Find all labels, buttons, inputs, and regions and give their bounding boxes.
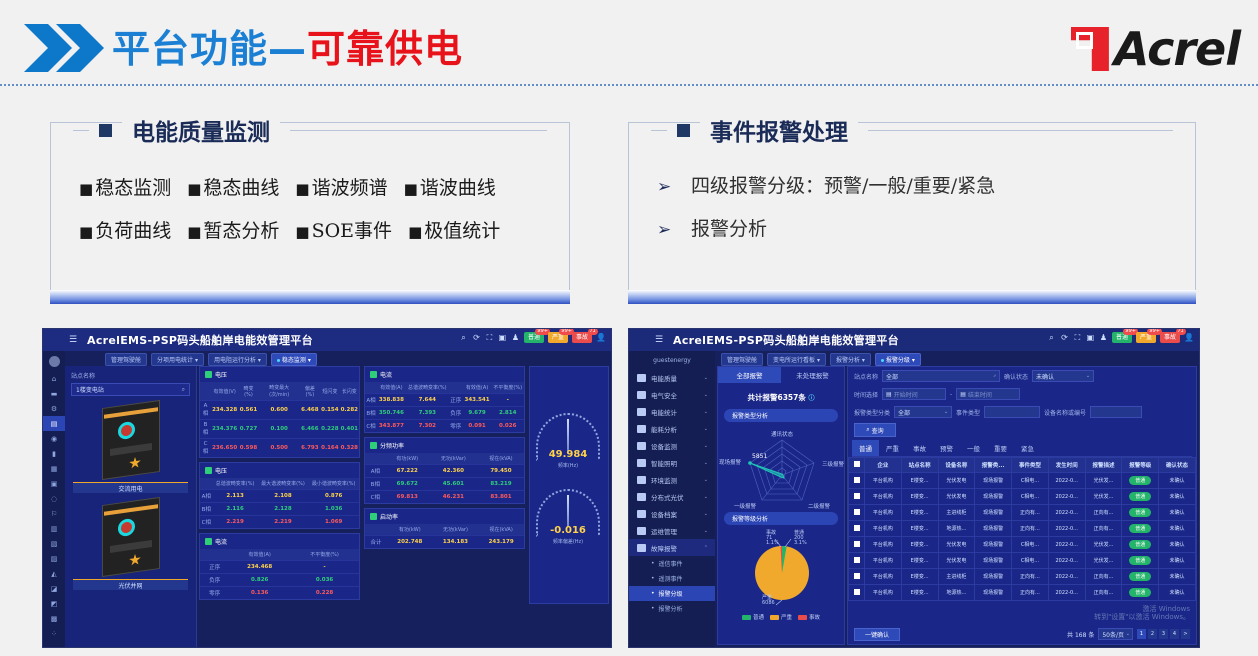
alarm-icon[interactable]: ♟ [511, 333, 520, 342]
tab-management-cockpit[interactable]: 管理驾驶舱 [105, 353, 147, 366]
sidebar-item-smart-lighting[interactable]: 智能照明⌄ [629, 454, 715, 471]
alarm-bell-icon [637, 544, 646, 552]
chevron-down-icon: ⌄ [1126, 631, 1130, 637]
svg-text:3.1%: 3.1% [794, 540, 807, 546]
table-row[interactable]: 平台机构 E楼变... 光伏发电 现场报警 C相电... 2022-0... 光… [849, 537, 1196, 553]
row-checkbox[interactable] [849, 489, 865, 505]
gauge-frequency-deviation: -0.016 频率偏差(Hz) [530, 485, 606, 553]
level-tab-prewarn[interactable]: 预警 [933, 440, 960, 456]
card-header: 电流 [200, 534, 359, 549]
page-title: 平台功能—可靠供电 [112, 18, 463, 73]
sidebar-item-label: 电能统计 [651, 407, 677, 417]
card-header: 启动率 [365, 509, 524, 524]
sidebar-item-power-statistics[interactable]: 电能统计⌄ [629, 403, 715, 420]
right-tab-bar: 管理驾驶舱 变电所运行看板 ▾ 报警分析 ▾ 报警分级 ▾ [721, 353, 921, 366]
sidebar-icon-report[interactable]: ◪ [43, 581, 65, 596]
svg-text:6086: 6086 [762, 600, 775, 606]
bullet-item: ■谐波频谱 [295, 173, 387, 200]
table-row: 零序 0.136 0.228 [200, 587, 359, 600]
bullet-item: ■极值统计 [408, 216, 500, 243]
card-current: 电流 有效值(A) 总谐波畸变率(%) 有效值(A) 不平衡度(%) A相 [364, 366, 525, 433]
alarm-table-panel: 站点名称 全部⌕ 确认状态 未确认⌄ 时间选择 ▤开始时间 - ▤结束时间 报警… [847, 366, 1197, 645]
slide-header: 平台功能—可靠供电 Acrel [0, 0, 1258, 92]
level-tab-urgent[interactable]: 紧急 [1014, 440, 1041, 456]
panel-left-title: 电能质量监测 [122, 113, 280, 147]
sidebar-icon-archive[interactable]: ▧ [43, 536, 65, 551]
sidebar-icon-user[interactable]: ◉ [43, 431, 65, 446]
panel-left-bullets: ■稳态监测 ■稳态曲线 ■谐波频谱 ■谐波曲线 ■负荷曲线 ■暂态分析 ■SOE… [79, 173, 555, 259]
bullet-label: 暂态分析 [203, 216, 279, 243]
bullet-label: 谐波曲线 [420, 173, 496, 200]
bullet-label: 负荷曲线 [95, 216, 171, 243]
sidebar-icon-home[interactable]: ⌂ [43, 371, 65, 386]
badge-label: 事故 [1164, 334, 1176, 341]
svg-text:三级报警: 三级报警 [822, 460, 845, 468]
sidebar-item-energy-analysis[interactable]: 能耗分析⌄ [629, 420, 715, 437]
page-title-main: 平台功能— [112, 27, 307, 71]
card-header: 电压 [200, 463, 359, 478]
screen-icon[interactable]: ▣ [1086, 333, 1095, 342]
sidebar-item-label: 设备监测 [651, 441, 677, 451]
card-icon [205, 467, 212, 474]
double-chevron-right-icon [22, 22, 108, 74]
badge-normal[interactable]: 普通99+ [524, 332, 544, 343]
table-startup-rate: 有功(kW) 无功(kVar) 视在(kVA) 合计 202.748 134.1… [365, 524, 524, 548]
sidebar-item-label: 电气安全 [651, 390, 677, 400]
level-tab-general[interactable]: 一般 [960, 440, 987, 456]
sidebar-item-device-archive[interactable]: 设备档案⌄ [629, 505, 715, 522]
table-header-row: 有功(kW) 无功(kVar) 视在(kVA) [365, 524, 524, 536]
tab-substation-board[interactable]: 变电所运行看板 ▾ [767, 353, 826, 366]
sidebar-item-ops-management[interactable]: 运维管理⌄ [629, 522, 715, 539]
svg-text:通讯状态: 通讯状态 [771, 430, 794, 438]
bullet-label: SOE事件 [312, 216, 392, 243]
page-4[interactable]: 4 [1170, 629, 1179, 639]
sidebar-item-label: 设备档案 [651, 509, 677, 519]
badge-count: 71 [588, 328, 598, 335]
acrel-mark-icon [1071, 27, 1109, 71]
page-title-accent: 可靠供电 [307, 27, 463, 71]
sidebar-icon-stats[interactable]: ▮ [43, 446, 65, 461]
bullet-item: ■稳态曲线 [187, 173, 279, 200]
card-title: 分频功率 [380, 441, 404, 450]
pie-chart: 事故 71 1.1% 普通 200 3.1% 严重 6086 普通 严重 事故 [718, 529, 844, 615]
sidebar-subitem-telemetry-event[interactable]: 遥测事件 [629, 571, 715, 586]
table-row[interactable]: 平台机构 E楼变... 地源热... 现场报警 正向有... 2022-0...… [849, 521, 1196, 537]
panel-right-title: 事件报警处理 [700, 113, 858, 147]
alarm-summary-panel: 全部报警 未处理报警 共计报警6357条 ⓘ 报警类型分析 通讯状态 [717, 366, 845, 645]
filter-event-input[interactable] [984, 406, 1040, 418]
bullet-label: 极值统计 [424, 216, 500, 243]
sidebar-subitem-telesignal-event[interactable]: 遥信事件 [629, 556, 715, 571]
svg-text:现场报警: 现场报警 [719, 458, 742, 466]
right-app-title: AcrelEMS-PSP码头船舶岸电能效管理平台 [673, 332, 899, 348]
search-button[interactable]: ⌕查询 [854, 423, 896, 437]
page-1[interactable]: 1 [1137, 629, 1146, 639]
card-title: 电压 [215, 466, 227, 475]
badge-label: 严重 [1140, 334, 1152, 341]
table-row: 负序 0.826 0.036 [200, 574, 359, 587]
card-icon [370, 442, 377, 449]
left-icon-sidebar: ⌂ ▬ ⚙ ▤ ◉ ▮ ▦ ▣ ◌ ⚐ ▥ ▧ ▨ ◭ ◪ ◩ ▩ ⁘ [43, 351, 65, 647]
card-header: 电流 [365, 367, 524, 382]
row-checkbox[interactable] [849, 521, 865, 537]
badge-label: 普通 [1116, 334, 1128, 341]
table-row: B相 69.672 45.601 83.219 [365, 478, 524, 491]
card-title: 启动率 [380, 512, 398, 521]
page-next[interactable]: > [1181, 629, 1190, 639]
table-current: 有效值(A) 总谐波畸变率(%) 有效值(A) 不平衡度(%) A相 338.8… [365, 382, 524, 432]
chevron-down-icon: ⌄ [704, 511, 708, 517]
status-badge: 普通 [1122, 489, 1159, 505]
tab-operation-analysis[interactable]: 用电阻运行分析 ▾ [208, 353, 267, 366]
filter-time-label: 时间选择 [854, 390, 878, 399]
table-row: C相 236.650 0.598 0.500 6.793 0.164 0.328 [200, 439, 359, 458]
table-voltage-harmonic: 总谐波畸变率(%) 最大谐波畸变率(%) 最小谐波畸变率(%) A相 2.113… [200, 478, 359, 528]
bullet-label: 谐波频谱 [312, 173, 388, 200]
card-icon [205, 371, 212, 378]
bullet-square-icon [99, 124, 112, 137]
panel-power-quality: 电能质量监测 ■稳态监测 ■稳态曲线 ■谐波频谱 ■谐波曲线 ■负荷曲线 ■暂态… [50, 122, 570, 304]
avatar[interactable]: 👤 [1184, 333, 1193, 342]
radar-panel-title: 报警类型分析 [724, 409, 838, 422]
card-split-power: 分频功率 有功(kW) 无功(kVar) 视在(kVA) A相 67.222 4… [364, 437, 525, 504]
avatar[interactable]: 👤 [596, 333, 605, 342]
badge-count: 71 [1176, 328, 1186, 335]
sidebar-item-label: 能耗分析 [651, 424, 677, 434]
sidebar-item-env-monitor[interactable]: 环境监测⌄ [629, 471, 715, 488]
table-header-row: 有效值(V) 畸变(%) 畸变最大(次/min) 偏差(%) 短闪变 长闪变 [200, 382, 359, 401]
table-header-row: 有效值(A) 总谐波畸变率(%) 有效值(A) 不平衡度(%) [365, 382, 524, 394]
tab-alarm-level[interactable]: 报警分级 ▾ [875, 353, 921, 366]
gauge-deviation-caption: 频率偏差(Hz) [530, 538, 606, 545]
chevron-down-icon: ⌄ [704, 494, 708, 500]
arrow-right-icon: ➢ [657, 177, 691, 197]
bar-chart-icon [637, 408, 646, 416]
table-header-row: 有效值(A) 不平衡度(%) [200, 549, 359, 561]
chevron-down-icon: ⌄ [944, 409, 948, 415]
device-caption-pv[interactable]: 光伏并网 [73, 579, 188, 590]
monitor-icon [637, 442, 646, 450]
table-header-row: 有功(kW) 无功(kVar) 视在(kVA) [365, 453, 524, 465]
sidebar-item-label: 运维管理 [651, 526, 677, 536]
svg-text:5851: 5851 [752, 453, 767, 460]
table-header-row: 总谐波畸变率(%) 最大谐波畸变率(%) 最小谐波畸变率(%) [200, 478, 359, 490]
badge-label: 普通 [528, 334, 540, 341]
table-current-sequence: 有效值(A) 不平衡度(%) 正序 234.468 - 负序 0.826 0.0… [200, 549, 359, 599]
solar-icon [637, 493, 646, 501]
card-title: 电流 [215, 537, 227, 546]
acrel-wordmark: Acrel [1114, 22, 1240, 76]
menu-icon[interactable]: ☰ [655, 336, 665, 345]
filter-event-label: 事件类型 [956, 408, 980, 417]
windows-watermark: 激活 Windows 转到"设置"以激活 Windows。 [1094, 605, 1190, 623]
page-3[interactable]: 3 [1159, 629, 1168, 639]
folder-icon [637, 374, 646, 382]
tab-subitem-stats[interactable]: 分项用电统计 ▾ [151, 353, 204, 366]
gauge-frequency-caption: 频率(Hz) [530, 462, 606, 469]
sidebar-icon-energy[interactable]: ▦ [43, 461, 65, 476]
header-divider [0, 84, 1258, 86]
sidebar-item-electrical-safety[interactable]: 电气安全⌄ [629, 386, 715, 403]
station-search-input[interactable]: 1楼变电站 ⌕ [71, 383, 190, 396]
card-title: 电流 [380, 370, 392, 379]
table-row: A相 338.838 7.644 正序 343.541 - [365, 394, 524, 407]
filter-station-input[interactable]: 全部⌕ [882, 370, 1000, 382]
badge-accident[interactable]: 事故71 [1160, 332, 1180, 343]
bullet-label: 稳态监测 [95, 173, 171, 200]
left-app-title: AcrelEMS-PSP码头船舶岸电能效管理平台 [87, 332, 313, 348]
sidebar-icon-pv[interactable]: ▥ [43, 521, 65, 536]
sidebar-item-distributed-pv[interactable]: 分布式光伏⌄ [629, 488, 715, 505]
level-tab-important[interactable]: 重要 [987, 440, 1014, 456]
svg-text:二级报警: 二级报警 [808, 502, 831, 510]
total-rows-label: 共 168 条 [1067, 630, 1094, 639]
chevron-down-icon: ⌄ [704, 477, 708, 483]
search-icon[interactable]: ⌕ [459, 333, 468, 342]
filter-row-2: 时间选择 ▤开始时间 - ▤结束时间 [848, 385, 1196, 403]
search-icon[interactable]: ⌕ [182, 386, 185, 394]
svg-text:1.1%: 1.1% [766, 540, 779, 546]
station-value: 1楼变电站 [76, 385, 104, 394]
badge-accident[interactable]: 事故71 [572, 332, 592, 343]
bullet-row: ■负荷曲线 ■暂态分析 ■SOE事件 ■极值统计 [79, 216, 555, 243]
calendar-icon: ▤ [960, 391, 966, 398]
row-checkbox[interactable] [849, 569, 865, 585]
chevron-down-icon: ⌄ [704, 409, 708, 415]
table-row: A相 2.113 2.108 0.876 [200, 490, 359, 503]
table-row: A相 234.328 0.561 0.600 6.468 0.154 0.282 [200, 401, 359, 420]
table-row[interactable]: 平台机构 E楼变... 光伏发电 现场报警 C相电... 2022-0... 光… [849, 489, 1196, 505]
tab-steady-monitor[interactable]: 稳态监测 ▾ [271, 353, 317, 366]
fullscreen-icon[interactable]: ⛶ [485, 333, 494, 342]
tab-management-cockpit[interactable]: 管理驾驶舱 [721, 353, 763, 366]
refresh-icon[interactable]: ⟳ [1060, 333, 1069, 342]
svg-text:一级报警: 一级报警 [734, 502, 757, 510]
sidebar-icon-light[interactable]: ◌ [43, 491, 65, 506]
device-caption-ac[interactable]: 交流用电 [73, 482, 188, 493]
device-image-pv [102, 501, 160, 573]
shield-icon [637, 391, 646, 399]
arrow-list-item: ➢ 报警分析 [657, 214, 1181, 241]
table-split-power: 有功(kW) 无功(kVar) 视在(kVA) A相 67.222 42.360… [365, 453, 524, 503]
card-startup-rate: 启动率 有功(kW) 无功(kVar) 视在(kVA) 合计 202.748 1… [364, 508, 525, 549]
left-top-icons: ⌕ ⟳ ⛶ ▣ ♟ 普通99+ 严重99+ 事故71 👤 [459, 332, 605, 343]
env-icon [637, 476, 646, 484]
card-gauges: 49.984 频率(Hz) -0.016 频率偏差(Hz) [529, 366, 609, 604]
sidebar-icon-more[interactable]: ⁘ [43, 626, 65, 641]
level-tab-accident[interactable]: 事故 [906, 440, 933, 456]
left-app-titlebar: ☰ AcrelEMS-PSP码头船舶岸电能效管理平台 ⌕ ⟳ ⛶ ▣ ♟ 普通9… [43, 329, 611, 351]
row-checkbox[interactable] [849, 473, 865, 489]
sidebar-icon-config[interactable]: ◩ [43, 596, 65, 611]
sidebar-icon-doc[interactable]: ▩ [43, 611, 65, 626]
tab-unhandled-alarms[interactable]: 未处理报警 [781, 367, 844, 383]
status-badge: 普通 [1122, 505, 1159, 521]
page-size-select[interactable]: 50条/页⌄ [1098, 628, 1133, 640]
status-badge: 普通 [1122, 553, 1159, 569]
sidebar-icon-monitor[interactable]: ▬ [43, 386, 65, 401]
badge-label: 严重 [552, 334, 564, 341]
filter-start-date[interactable]: ▤开始时间 [882, 388, 946, 400]
badge-serious[interactable]: 严重99+ [548, 332, 568, 343]
filter-device-input[interactable] [1090, 406, 1142, 418]
arrow-right-icon: ➢ [657, 220, 691, 240]
alarm-icon[interactable]: ♟ [1099, 333, 1108, 342]
page-2[interactable]: 2 [1148, 629, 1157, 639]
filter-type-select[interactable]: 全部⌄ [894, 406, 952, 418]
filter-end-date[interactable]: ▤结束时间 [956, 388, 1020, 400]
sidebar-icon-env[interactable]: ⚐ [43, 506, 65, 521]
level-tab-serious[interactable]: 严重 [879, 440, 906, 456]
bullet-item: ■SOE事件 [295, 216, 392, 243]
screen-icon[interactable]: ▣ [498, 333, 507, 342]
ack-all-button[interactable]: 一键确认 [854, 628, 900, 641]
legend-normal: 普通 [742, 613, 764, 621]
table-row: B相 234.376 0.727 0.100 6.466 0.228 0.401 [200, 420, 359, 439]
alarm-table: 企业 站点名称 设备名称 报警类... 事件类型 发生时间 报警描述 报警等级 … [848, 457, 1196, 601]
filter-row-1: 站点名称 全部⌕ 确认状态 未确认⌄ [848, 367, 1196, 385]
table-row: B相 2.116 2.128 1.036 [200, 503, 359, 516]
select-all-checkbox[interactable] [849, 458, 865, 473]
panel-event-alarm: 事件报警处理 ➢ 四级报警分级：预警/一般/重要/紧急 ➢ 报警分析 [628, 122, 1196, 304]
page-numbers: 1 2 3 4 > [1137, 629, 1190, 639]
bullet-row: ■稳态监测 ■稳态曲线 ■谐波频谱 ■谐波曲线 [79, 173, 555, 200]
badge-normal[interactable]: 普通99+ [1112, 332, 1132, 343]
chevron-down-icon: ⌄ [1086, 373, 1090, 379]
row-checkbox[interactable] [849, 553, 865, 569]
chart-icon [637, 425, 646, 433]
row-checkbox[interactable] [849, 537, 865, 553]
table-bottom-bar: 一键确认 共 168 条 50条/页⌄ 1 2 3 4 > [848, 624, 1196, 644]
chevron-down-icon: ⌄ [704, 443, 708, 449]
table-row: C相 69.813 46.231 83.801 [365, 491, 524, 504]
gauge-frequency-value: 49.984 [530, 449, 606, 460]
search-icon[interactable]: ⌕ [1047, 333, 1056, 342]
card-icon [205, 538, 212, 545]
level-tab-normal[interactable]: 普通 [852, 440, 879, 456]
sidebar-item-label: 电能质量 [651, 373, 677, 383]
table-row: C相 343.877 7.302 零序 0.091 0.026 [365, 420, 524, 433]
bullet-item: ■负荷曲线 [79, 216, 171, 243]
acrel-logo: Acrel [1071, 22, 1240, 76]
filter-ack-select[interactable]: 未确认⌄ [1032, 370, 1094, 382]
alarm-segmented-tabs: 全部报警 未处理报警 [718, 367, 844, 383]
left-station-panel: 站点名称 1楼变电站 ⌕ 交流用电 光伏并网 [65, 366, 197, 647]
row-checkbox[interactable] [849, 585, 865, 601]
table-row: A相 67.222 42.360 79.450 [365, 465, 524, 478]
sidebar-icon-quality[interactable]: ▤ [43, 416, 65, 431]
pie-legend: 普通 严重 事故 [718, 611, 844, 621]
table-row[interactable]: 平台机构 E楼变... 光伏发电 现场报警 C相电... 2022-0... 光… [849, 553, 1196, 569]
card-header: 分频功率 [365, 438, 524, 453]
gauge-frequency: 49.984 频率(Hz) [530, 409, 606, 477]
sidebar-item-fault-alarm[interactable]: 故障报警⌃ [629, 539, 715, 556]
sidebar-item-device-monitor[interactable]: 设备监测⌄ [629, 437, 715, 454]
sidebar-logo [43, 351, 65, 371]
card-icon [370, 513, 377, 520]
info-icon[interactable]: ⓘ [808, 395, 814, 402]
row-checkbox[interactable] [849, 505, 865, 521]
sidebar-icon-device[interactable]: ▣ [43, 476, 65, 491]
table-row[interactable]: 平台机构 E楼变... 主进线柜 现场报警 正向有... 2022-0... 正… [849, 569, 1196, 585]
bullet-item: ■稳态监测 [79, 173, 171, 200]
filter-station-label: 站点名称 [854, 372, 878, 381]
menu-icon[interactable]: ☰ [69, 336, 79, 345]
table-header-row: 企业 站点名称 设备名称 报警类... 事件类型 发生时间 报警描述 报警等级 … [849, 458, 1196, 473]
search-icon: ⌕ [866, 426, 869, 434]
gauge-deviation-value: -0.016 [530, 525, 606, 536]
table-row: B相 350.746 7.393 负序 9.679 2.814 [365, 407, 524, 420]
screenshot-dashboard-power-quality: ☰ AcrelEMS-PSP码头船舶岸电能效管理平台 ⌕ ⟳ ⛶ ▣ ♟ 普通9… [42, 328, 612, 648]
table-row[interactable]: 平台机构 E楼变... 地源热... 现场报警 正向有... 2022-0...… [849, 585, 1196, 601]
status-badge: 普通 [1122, 473, 1159, 489]
sidebar-item-label: 智能照明 [651, 458, 677, 468]
filter-row-3: 报警类型分类 全部⌄ 事件类型 设备名称或编号 [848, 403, 1196, 421]
sidebar-icon-ops[interactable]: ▨ [43, 551, 65, 566]
search-icon: ⌕ [993, 373, 996, 379]
sidebar-item-label: 分布式光伏 [651, 492, 684, 502]
filter-ack-label: 确认状态 [1004, 372, 1028, 381]
card-voltage-1: 电压 有效值(V) 畸变(%) 畸变最大(次/min) 偏差(%) 短闪变 长闪… [199, 366, 360, 458]
arrow-list-item: ➢ 四级报警分级：预警/一般/重要/紧急 [657, 171, 1181, 198]
status-badge: 普通 [1122, 521, 1159, 537]
right-app-titlebar: ☰ AcrelEMS-PSP码头船舶岸电能效管理平台 ⌕ ⟳ ⛶ ▣ ♟ 普通9… [629, 329, 1199, 351]
panel-left-header: 电能质量监测 [73, 113, 547, 147]
archive-icon [637, 510, 646, 518]
legend-accident: 事故 [798, 613, 820, 621]
right-sidebar: guestenergy 电能质量⌄ 电气安全⌄ 电能统计⌄ 能耗分析⌄ 设备监测… [629, 351, 715, 647]
sidebar-icon-safety[interactable]: ⚙ [43, 401, 65, 416]
panel-right-header: 事件报警处理 [651, 113, 1173, 147]
sidebar-item-power-quality[interactable]: 电能质量⌄ [629, 369, 715, 386]
left-tab-bar: 管理驾驶舱 分项用电统计 ▾ 用电阻运行分析 ▾ 稳态监测 ▾ [105, 353, 317, 366]
fullscreen-icon[interactable]: ⛶ [1073, 333, 1082, 342]
sidebar-subitem-alarm-analysis[interactable]: 报警分析 [629, 601, 715, 616]
table-row: 正序 234.468 - [200, 561, 359, 574]
filter-type-label: 报警类型分类 [854, 408, 890, 417]
bullet-square-icon [677, 124, 690, 137]
card-title: 电压 [215, 370, 227, 379]
card-voltage-harmonic: 电压 总谐波畸变率(%) 最大谐波畸变率(%) 最小谐波畸变率(%) A相 2.… [199, 462, 360, 529]
station-name-label: 站点名称 [71, 371, 196, 380]
sidebar-icon-alarm[interactable]: ◭ [43, 566, 65, 581]
right-top-icons: ⌕ ⟳ ⛶ ▣ ♟ 普通99+ 严重99+ 事故71 👤 [1047, 332, 1193, 343]
chevron-down-icon: ⌄ [704, 528, 708, 534]
sidebar-item-label: 环境监测 [651, 475, 677, 485]
arrow-item-label: 四级报警分级：预警/一般/重要/紧急 [691, 171, 995, 198]
pagination: 共 168 条 50条/页⌄ 1 2 3 4 > [1067, 628, 1190, 640]
card-current-sequence: 电流 有效值(A) 不平衡度(%) 正序 234.468 - [199, 533, 360, 600]
screenshot-alarm-management: ☰ AcrelEMS-PSP码头船舶岸电能效管理平台 ⌕ ⟳ ⛶ ▣ ♟ 普通9… [628, 328, 1200, 648]
status-badge: 普通 [1122, 585, 1159, 601]
table-row[interactable]: 平台机构 E楼变... 主进线柜 现场报警 正向有... 2022-0... 正… [849, 505, 1196, 521]
legend-serious: 严重 [770, 613, 792, 621]
tab-alarm-analysis[interactable]: 报警分析 ▾ [830, 353, 871, 366]
chevron-down-icon: ⌄ [704, 392, 708, 398]
calendar-icon: ▤ [886, 391, 892, 398]
bullet-item: ■谐波曲线 [404, 173, 496, 200]
tab-all-alarms[interactable]: 全部报警 [718, 367, 781, 383]
table-row[interactable]: 平台机构 E楼变... 光伏发电 现场报警 C相电... 2022-0... 光… [849, 473, 1196, 489]
badge-serious[interactable]: 严重99+ [1136, 332, 1156, 343]
device-image-ac [102, 404, 160, 476]
sidebar-subitem-alarm-level[interactable]: 报警分级 [629, 586, 715, 601]
bullet-label: 稳态曲线 [203, 173, 279, 200]
chevron-down-icon: ⌄ [704, 375, 708, 381]
table-row: C相 2.219 2.219 1.069 [200, 516, 359, 529]
refresh-icon[interactable]: ⟳ [472, 333, 481, 342]
